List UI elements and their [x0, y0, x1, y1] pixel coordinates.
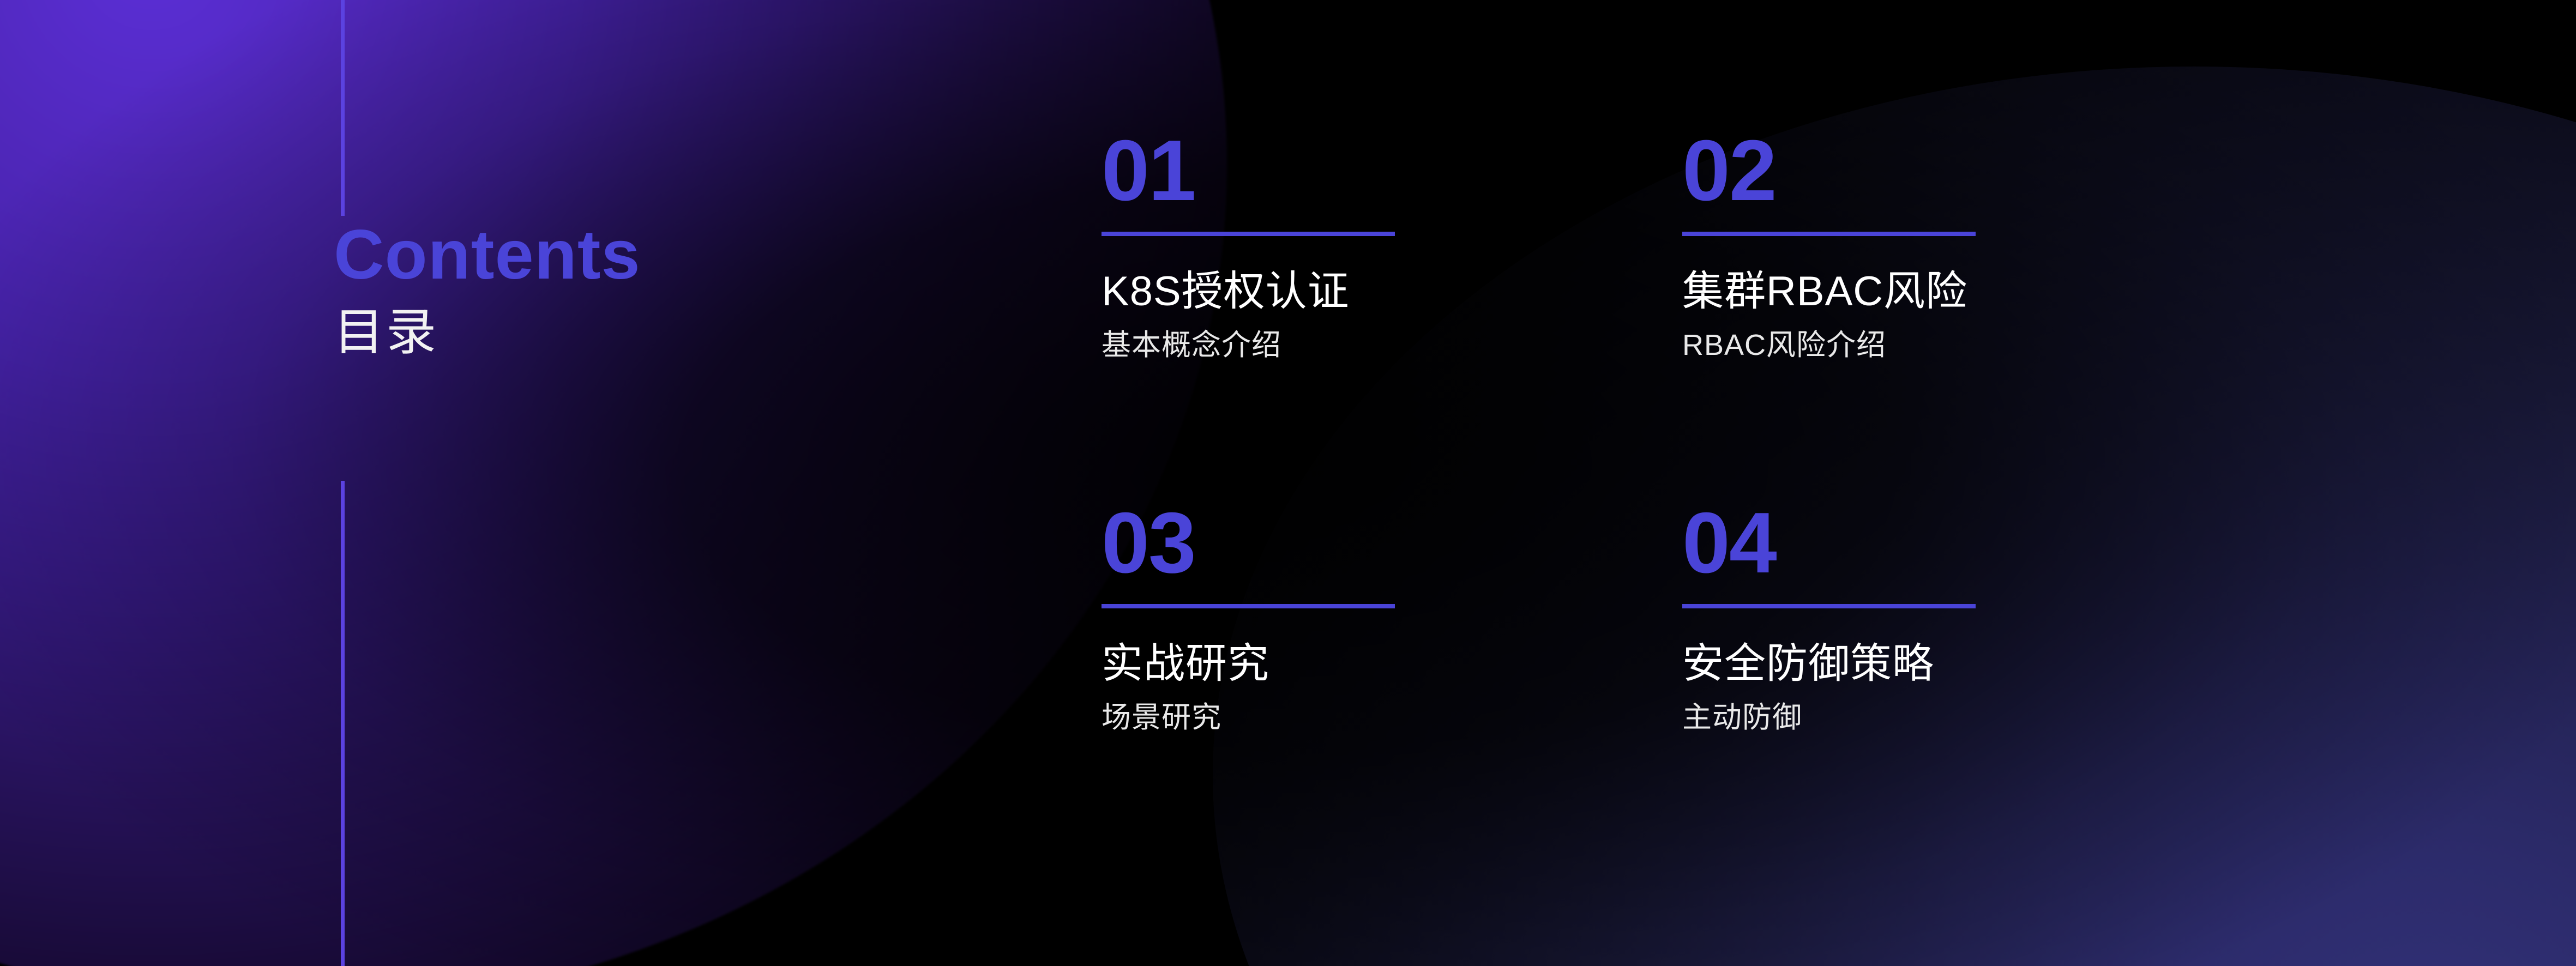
- item-rule-divider: [1682, 604, 1976, 608]
- item-number: 03: [1102, 501, 1407, 585]
- item-number: 04: [1682, 501, 1988, 585]
- item-number: 01: [1102, 129, 1407, 213]
- item-subtitle: 主动防御: [1682, 702, 1988, 733]
- contents-item-04[interactable]: 04 安全防御策略 主动防御: [1682, 501, 1988, 733]
- page-title-english: Contents: [334, 220, 824, 290]
- item-title: 安全防御策略: [1682, 642, 1988, 686]
- vertical-divider-bottom: [341, 481, 345, 966]
- page-title-block: Contents 目录: [334, 220, 824, 359]
- item-title: 实战研究: [1102, 642, 1407, 686]
- item-title: K8S授权认证: [1102, 270, 1407, 313]
- item-number: 02: [1682, 129, 1988, 213]
- contents-grid: 01 K8S授权认证 基本概念介绍 02 集群RBAC风险 RBAC风险介绍 0…: [1102, 129, 2029, 733]
- item-subtitle: 场景研究: [1102, 702, 1407, 733]
- contents-slide: Contents 目录 01 K8S授权认证 基本概念介绍 02 集群RBAC风…: [0, 0, 2576, 966]
- item-subtitle: RBAC风险介绍: [1682, 330, 1988, 361]
- contents-item-03[interactable]: 03 实战研究 场景研究: [1102, 501, 1407, 733]
- item-rule-divider: [1102, 604, 1395, 608]
- item-title: 集群RBAC风险: [1682, 270, 1988, 313]
- vertical-divider-top: [341, 0, 345, 216]
- contents-item-01[interactable]: 01 K8S授权认证 基本概念介绍: [1102, 129, 1407, 360]
- contents-item-02[interactable]: 02 集群RBAC风险 RBAC风险介绍: [1682, 129, 1988, 360]
- item-subtitle: 基本概念介绍: [1102, 330, 1407, 361]
- page-title-chinese: 目录: [334, 306, 824, 359]
- item-rule-divider: [1682, 232, 1976, 236]
- item-rule-divider: [1102, 232, 1395, 236]
